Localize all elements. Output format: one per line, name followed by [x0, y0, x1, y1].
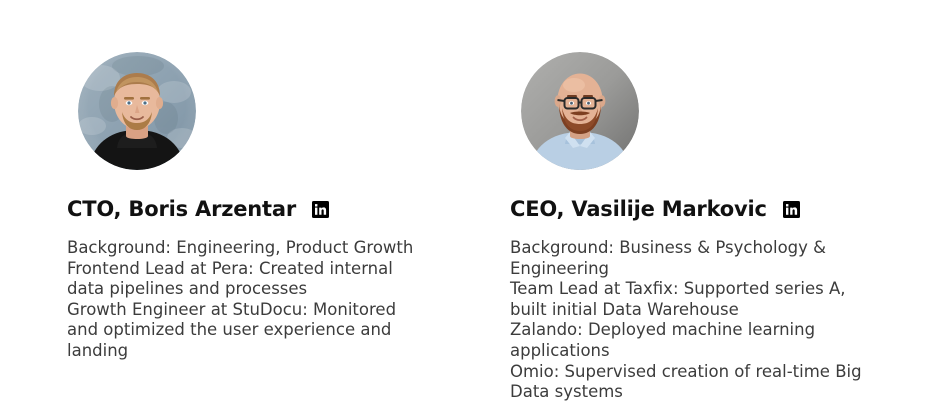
bio-line: Growth Engineer at StuDocu: Monitored an… [67, 300, 419, 362]
profile-name-row-ceo: CEO, Vasilije Markovic [510, 196, 886, 222]
profile-card-cto: CTO, Boris Arzentar Background: Engineer… [0, 0, 443, 412]
profile-name-ceo: CEO, Vasilije Markovic [510, 196, 767, 222]
bio-line: Background: Business & Psychology & Engi… [510, 238, 862, 279]
avatar-boris-arzentar [78, 52, 196, 170]
team-profiles-page: CTO, Boris Arzentar Background: Engineer… [0, 0, 948, 412]
avatar-vasilije-markovic [521, 52, 639, 170]
profile-bio-ceo: Background: Business & Psychology & Engi… [510, 238, 862, 403]
bio-line: Zalando: Deployed machine learning appli… [510, 320, 862, 361]
profiles-columns: CTO, Boris Arzentar Background: Engineer… [0, 0, 948, 412]
bio-line: Background: Engineering, Product Growth [67, 238, 419, 259]
profile-card-ceo: CEO, Vasilije Markovic Background: Busin… [443, 0, 886, 412]
bio-line: Frontend Lead at Pera: Created internal … [67, 259, 419, 300]
profile-bio-cto: Background: Engineering, Product Growth … [67, 238, 419, 362]
linkedin-icon[interactable] [312, 201, 329, 218]
linkedin-icon[interactable] [783, 201, 800, 218]
profile-name-row-cto: CTO, Boris Arzentar [67, 196, 443, 222]
bio-line: Omio: Supervised creation of real-time B… [510, 362, 862, 403]
bio-line: Team Lead at Taxfix: Supported series A,… [510, 279, 862, 320]
profile-name-cto: CTO, Boris Arzentar [67, 196, 296, 222]
